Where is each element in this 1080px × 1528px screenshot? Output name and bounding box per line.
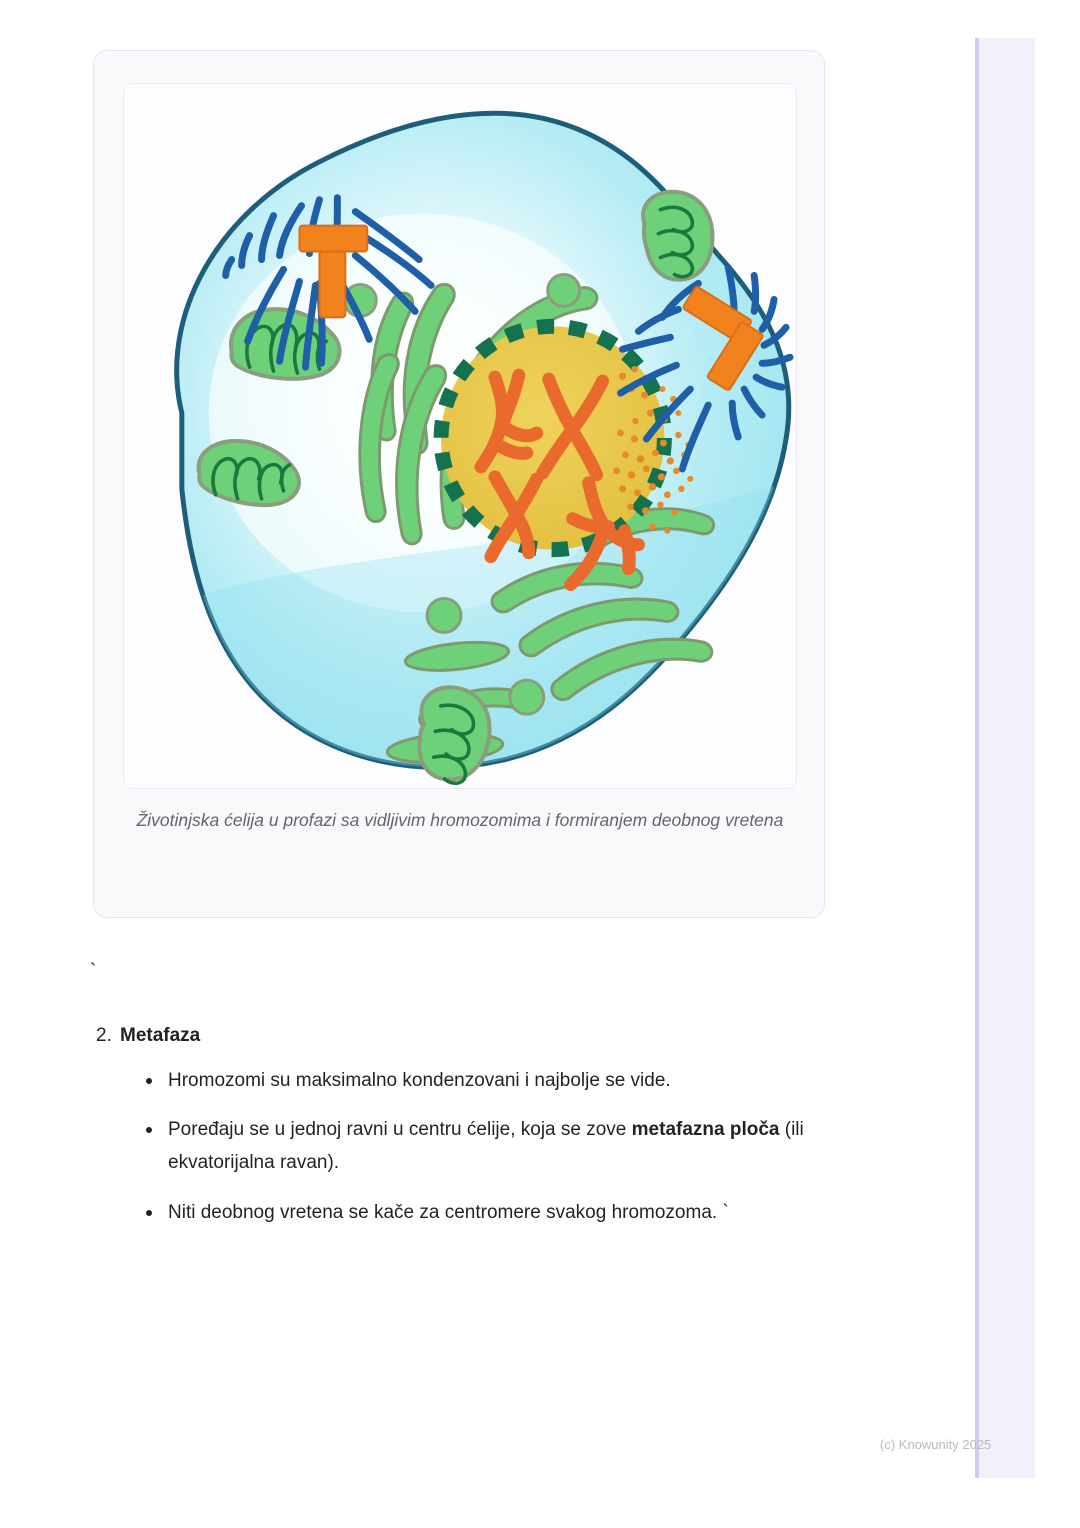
bullet-emphasis: metafazna ploča [632,1119,780,1140]
bullet-text: Poređaju se u jednoj ravni u centru ćeli… [168,1119,632,1140]
bullet-item: Poređaju se u jednoj ravni u centru ćeli… [142,1114,828,1179]
figure-card: Životinjska ćelija u profazi sa vidljivi… [93,50,825,918]
mitochondrion-upper-right [643,192,712,280]
centriole [319,252,345,318]
nucleus [441,326,664,549]
bullet-text: Niti deobnog vretena se kače za centrome… [168,1202,729,1223]
centriole [299,226,367,252]
section-heading: 2. Metafaza [96,1022,896,1051]
bullet-item: Niti deobnog vretena se kače za centrome… [142,1197,828,1230]
vesicle [427,599,461,633]
vesicle [510,680,544,714]
vesicle [548,274,580,306]
section-title: Metafaza [120,1022,200,1051]
animal-cell-prophase-illustration [124,84,796,788]
section-number: 2. [96,1022,120,1051]
bullet-list: Hromozomi su maksimalno kondenzovani i n… [96,1065,896,1230]
section-metafaza: 2. Metafaza Hromozomi su maksimalno kond… [96,1022,896,1246]
watermark: (c) Knowunity 2025 [880,1437,991,1452]
stray-backtick-marker: ` [90,962,96,981]
figure-caption: Životinjska ćelija u profazi sa vidljivi… [124,807,796,834]
bullet-item: Hromozomi su maksimalno kondenzovani i n… [142,1065,828,1098]
cell-diagram-frame [123,83,797,789]
bullet-text: Hromozomi su maksimalno kondenzovani i n… [168,1070,671,1091]
right-side-rail [975,38,1035,1478]
